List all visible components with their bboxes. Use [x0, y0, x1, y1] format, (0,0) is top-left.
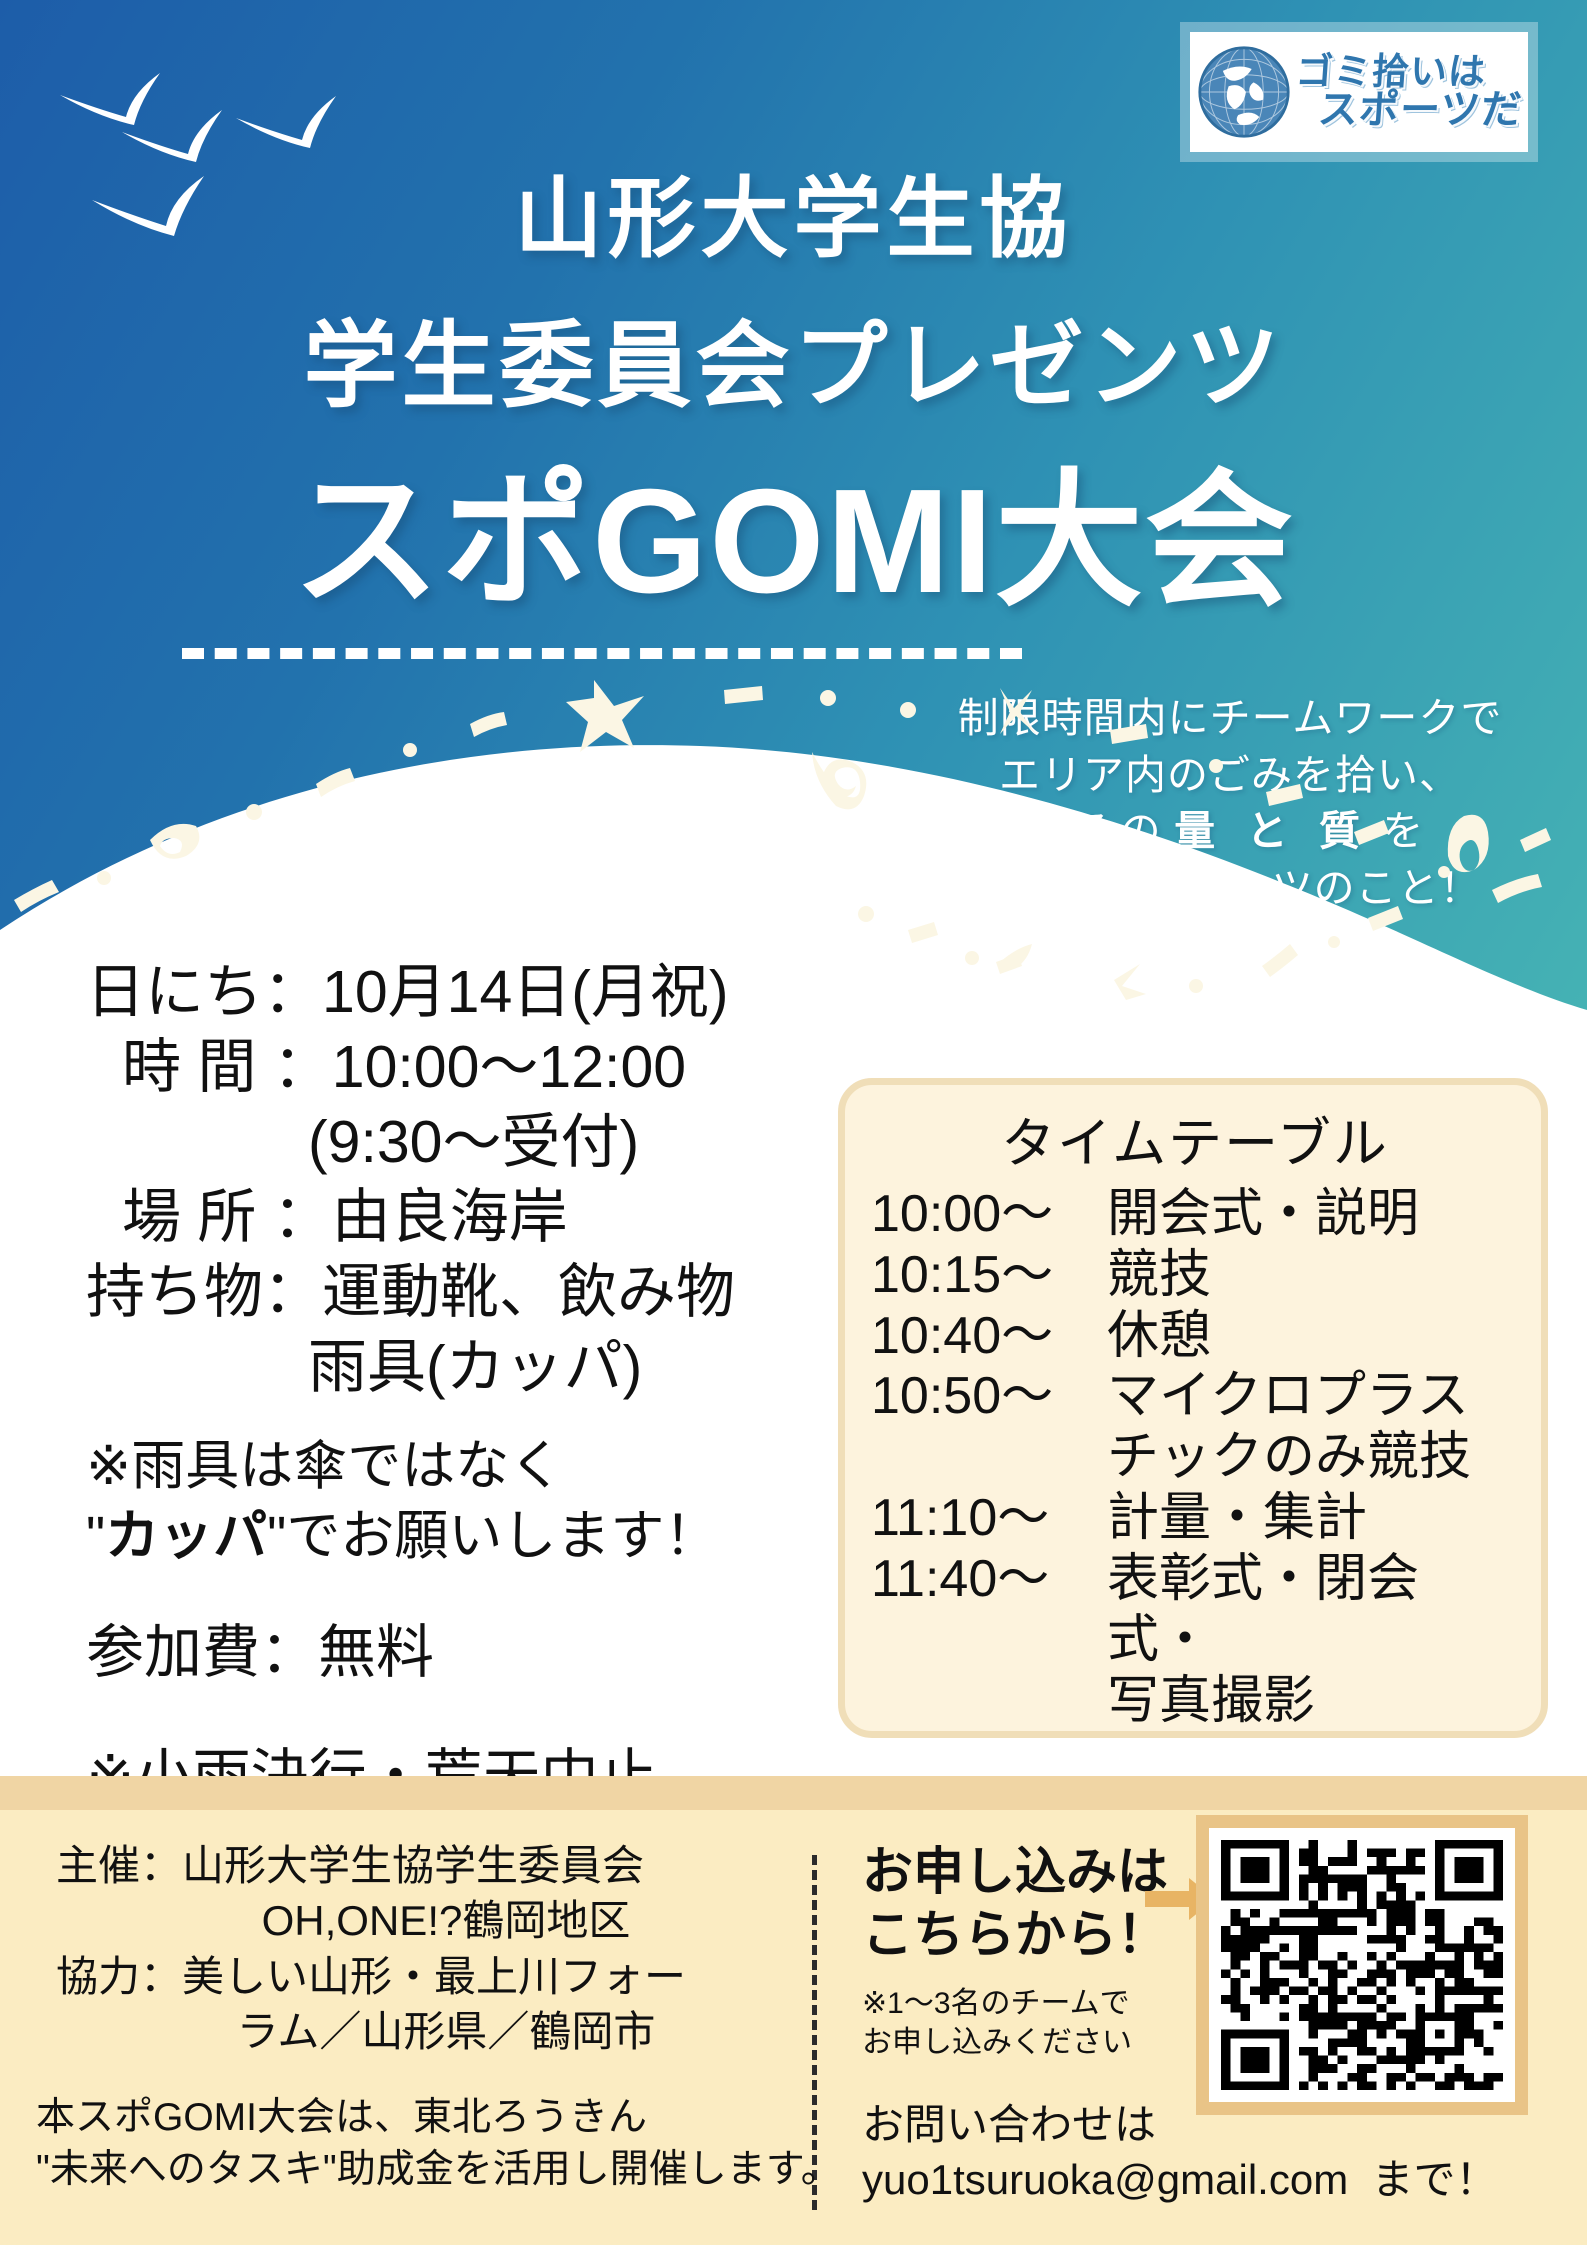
- timetable-label-cont: チックのみ競技: [1107, 1427, 1519, 1488]
- organizer-block: 主催：山形大学生協学生委員会 OH,ONE!?鶴岡地区 協力：美しい山形・最上川…: [56, 1838, 796, 2060]
- grant-line1: 本スポGOMI大会は、東北ろうきん: [36, 2092, 816, 2144]
- contact-label: お問い合わせは: [862, 2098, 1562, 2153]
- timetable-row: 11:40〜表彰式・閉会式・写真撮影: [871, 1549, 1519, 1731]
- detail-place: 場 所 ：由良海岸: [86, 1180, 846, 1255]
- raingear-note-line2: "カッパ"でお願いします！: [86, 1501, 846, 1571]
- event-details: 日にち：10月14日(月祝) 時 間 ：10:00〜12:00 (9:30〜受付…: [86, 955, 846, 1813]
- raingear-note-line1: ※雨具は傘ではなく: [86, 1431, 846, 1501]
- organizer-line1: 主催：山形大学生協学生委員会: [56, 1838, 796, 1893]
- detail-fee: 参加費：無料: [86, 1605, 846, 1689]
- contact-email[interactable]: yuo1tsuruoka@gmail.com: [862, 2156, 1348, 2203]
- timetable-time: 10:15〜: [871, 1245, 1107, 1306]
- timetable-list: 10:00〜開会式・説明10:15〜競技10:40〜休憩10:50〜マイクロプラ…: [871, 1184, 1519, 1731]
- qr-code-icon[interactable]: [1221, 1840, 1503, 2090]
- timetable-time: 10:50〜: [871, 1366, 1107, 1427]
- timetable-label: 計量・集計: [1107, 1488, 1519, 1549]
- timetable-title: タイムテーブル: [871, 1099, 1519, 1178]
- timetable-row: 10:15〜競技: [871, 1245, 1519, 1306]
- title-line3-main: スポGOMI大会: [0, 420, 1587, 635]
- grant-line2: "未来へのタスキ"助成金を活用し開催します。: [36, 2144, 816, 2196]
- timetable-label-cont: 写真撮影: [1107, 1671, 1519, 1732]
- timetable-label: 休憩: [1107, 1306, 1519, 1367]
- timetable-time: 11:40〜: [871, 1549, 1107, 1610]
- timetable-row: 10:50〜マイクロプラスチックのみ競技: [871, 1366, 1519, 1488]
- logo-line2: スポーツだ: [1317, 91, 1524, 130]
- contact-suffix: まで！: [1372, 2156, 1498, 2203]
- grant-block: 本スポGOMI大会は、東北ろうきん "未来へのタスキ"助成金を活用し開催します。: [36, 2092, 816, 2197]
- globe-icon: [1196, 44, 1292, 140]
- apply-note-line1: ※1〜3名のチームで: [862, 1984, 1212, 2023]
- apply-note-line2: お申し込みください: [862, 2023, 1212, 2062]
- timetable-label: マイクロプラスチックのみ競技: [1107, 1366, 1519, 1488]
- hero-section: ゴミ拾いは スポーツだ 山形大学生協 学生委員会プレゼンツ スポGOMI大会 制…: [0, 0, 1587, 1010]
- raingear-note: ※雨具は傘ではなく "カッパ"でお願いします！: [86, 1431, 846, 1571]
- timetable-row: 10:00〜開会式・説明: [871, 1184, 1519, 1245]
- organizer-line2: OH,ONE!?鶴岡地区: [56, 1893, 796, 1948]
- detail-time: 時 間 ：10:00〜12:00: [86, 1030, 846, 1105]
- title-dashed-rule: [182, 648, 1022, 659]
- timetable-row: 10:40〜休憩: [871, 1306, 1519, 1367]
- detail-date: 日にち：10月14日(月祝): [86, 955, 846, 1030]
- detail-bring-raingear: 雨具(カッパ): [86, 1330, 846, 1405]
- apply-block: お申し込みは こちらから！ ※1〜3名のチームで お申し込みください: [862, 1840, 1212, 2062]
- support-line1: 協力：美しい山形・最上川フォー: [56, 1949, 796, 2004]
- detail-time-reception: (9:30〜受付): [86, 1105, 846, 1180]
- timetable-label: 表彰式・閉会式・写真撮影: [1107, 1549, 1519, 1731]
- support-line2: ラム／山形県／鶴岡市: [56, 2004, 796, 2059]
- timetable-label: 競技: [1107, 1245, 1519, 1306]
- sportsgomi-logo-badge: ゴミ拾いは スポーツだ: [1180, 22, 1538, 162]
- timetable-time: 10:40〜: [871, 1306, 1107, 1367]
- qr-code-frame[interactable]: [1196, 1815, 1528, 2115]
- contact-block: お問い合わせは yuo1tsuruoka@gmail.com まで！: [862, 2098, 1562, 2207]
- poster-root: ゴミ拾いは スポーツだ 山形大学生協 学生委員会プレゼンツ スポGOMI大会 制…: [0, 0, 1587, 2245]
- footer-top-band: [0, 1776, 1587, 1810]
- title-line2: 学生委員会プレゼンツ: [0, 290, 1587, 426]
- timetable-label: 開会式・説明: [1107, 1184, 1519, 1245]
- timetable-time: 11:10〜: [871, 1488, 1107, 1549]
- timetable-time: 10:00〜: [871, 1184, 1107, 1245]
- detail-bring: 持ち物：運動靴、飲み物: [86, 1255, 846, 1330]
- timetable-row: 11:10〜計量・集計: [871, 1488, 1519, 1549]
- title-line1: 山形大学生協: [0, 148, 1587, 275]
- timetable-box: タイムテーブル 10:00〜開会式・説明10:15〜競技10:40〜休憩10:5…: [838, 1078, 1548, 1738]
- logo-line1: ゴミ拾いは: [1295, 54, 1524, 90]
- contact-email-line: yuo1tsuruoka@gmail.com まで！: [862, 2153, 1562, 2208]
